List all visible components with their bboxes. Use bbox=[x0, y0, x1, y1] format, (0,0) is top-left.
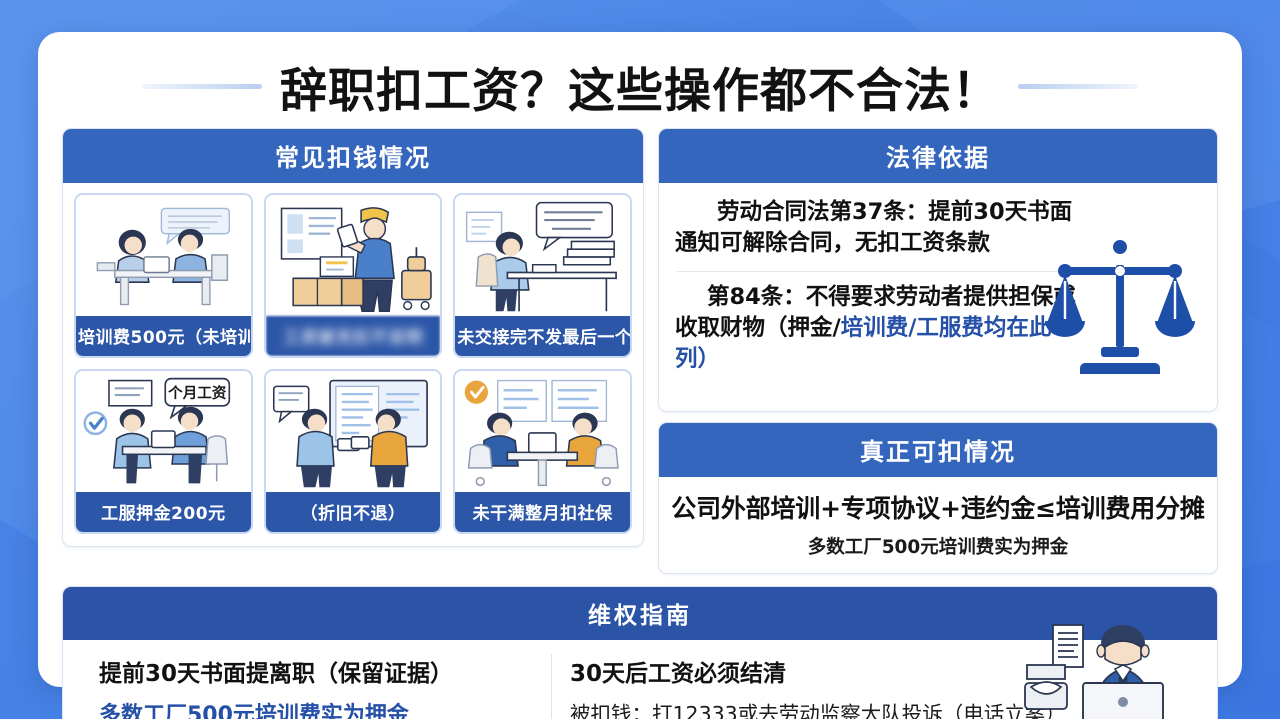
legal-divider bbox=[677, 271, 1078, 272]
legal-paragraph-1: 劳动合同法第37条：提前30天书面通知可解除合同，无扣工资条款 bbox=[675, 197, 1080, 259]
content-columns: 常见扣钱情况 bbox=[52, 128, 1228, 574]
deduction-card-caption: （折旧不退） bbox=[266, 492, 441, 532]
panel-body-rights-guide: 提前30天书面提离职（保留证据） 多数工厂500元培训费实为押金 30天后工资必… bbox=[63, 640, 1217, 719]
scales-of-justice-icon bbox=[1045, 231, 1195, 381]
deduction-card-caption: 未交接完不发最后一个 bbox=[455, 316, 630, 356]
illustration-desk-two-people-check: 个月工资 bbox=[76, 371, 251, 492]
consultant-at-desk-icon bbox=[1019, 621, 1199, 719]
deduction-card-caption: 未干满整月扣社保 bbox=[455, 492, 630, 532]
rights-guide-column-left: 提前30天书面提离职（保留证据） 多数工厂500元培训费实为押金 bbox=[81, 654, 551, 719]
column-left: 常见扣钱情况 bbox=[62, 128, 644, 574]
main-infographic-card: 辞职扣工资？这些操作都不合法！ 常见扣钱情况 bbox=[38, 32, 1242, 687]
deduction-card-caption: 工服押金200元 bbox=[76, 492, 251, 532]
illustration-desk-paper-stack bbox=[455, 195, 630, 316]
panel-header-common-deductions: 常见扣钱情况 bbox=[63, 129, 643, 183]
panel-header-deductible-cases: 真正可扣情况 bbox=[659, 423, 1217, 477]
panel-rights-guide: 维权指南 提前30天书面提离职（保留证据） 多数工厂500元培训费实为押金 30… bbox=[62, 586, 1218, 719]
panel-header-legal-basis: 法律依据 bbox=[659, 129, 1217, 183]
page-title: 辞职扣工资？这些操作都不合法！ bbox=[280, 52, 1000, 121]
illustration-two-people-laptop-desk bbox=[455, 371, 630, 492]
illustration-office-desk-interview bbox=[76, 195, 251, 316]
deductible-main-line: 公司外部培训+专项协议+违约金≤培训费用分摊 bbox=[669, 489, 1207, 525]
column-right: 法律依据 劳动合同法第37条：提前30天书面通知可解除合同，无扣工资条款 第84… bbox=[658, 128, 1218, 574]
panel-body-legal-basis: 劳动合同法第37条：提前30天书面通知可解除合同，无扣工资条款 第84条：不得要… bbox=[659, 183, 1217, 411]
deductible-sub-line: 多数工厂500元培训费实为押金 bbox=[669, 533, 1207, 559]
deduction-card-caption-blurred: 工资被克扣不说明 bbox=[266, 316, 441, 356]
legal-paragraph-2: 第84条：不得要求劳动者提供担保或收取财物（押金/培训费/工服费均在此列） bbox=[675, 282, 1080, 375]
legal-text-block: 劳动合同法第37条：提前30天书面通知可解除合同，无扣工资条款 第84条：不得要… bbox=[675, 197, 1080, 375]
illustration-two-people-handover bbox=[266, 371, 441, 492]
panel-common-deductions: 常见扣钱情况 bbox=[62, 128, 644, 547]
deduction-card[interactable]: 培训费500元（未培训） bbox=[74, 193, 253, 358]
guide-left-line-1: 提前30天书面提离职（保留证据） bbox=[99, 654, 533, 688]
panel-body-deductible-cases: 公司外部培训+专项协议+违约金≤培训费用分摊 多数工厂500元培训费实为押金 bbox=[659, 477, 1217, 573]
panel-body-common-deductions: 培训费500元（未培训） bbox=[63, 183, 643, 546]
deduction-card[interactable]: （折旧不退） bbox=[264, 369, 443, 534]
panel-deductible-cases: 真正可扣情况 公司外部培训+专项协议+违约金≤培训费用分摊 多数工厂500元培训… bbox=[658, 422, 1218, 574]
deduction-card[interactable]: 工资被克扣不说明 bbox=[264, 193, 443, 358]
title-row: 辞职扣工资？这些操作都不合法！ bbox=[52, 44, 1228, 128]
svg-text:个月工资: 个月工资 bbox=[167, 384, 227, 402]
guide-left-line-2: 多数工厂500元培训费实为押金 bbox=[99, 697, 533, 719]
deduction-card-grid: 培训费500元（未培训） bbox=[74, 193, 632, 534]
rights-guide-panel-frame: 维权指南 提前30天书面提离职（保留证据） 多数工厂500元培训费实为押金 30… bbox=[62, 586, 1218, 719]
illustration-worker-boxes-luggage bbox=[266, 195, 441, 316]
panel-legal-basis: 法律依据 劳动合同法第37条：提前30天书面通知可解除合同，无扣工资条款 第84… bbox=[658, 128, 1218, 412]
deduction-card[interactable]: 未干满整月扣社保 bbox=[453, 369, 632, 534]
deduction-card[interactable]: 未交接完不发最后一个 bbox=[453, 193, 632, 358]
deduction-card-caption: 培训费500元（未培训） bbox=[76, 316, 251, 356]
title-rule-right bbox=[1018, 84, 1138, 89]
title-rule-left bbox=[142, 84, 262, 89]
deduction-card[interactable]: 个月工资 bbox=[74, 369, 253, 534]
